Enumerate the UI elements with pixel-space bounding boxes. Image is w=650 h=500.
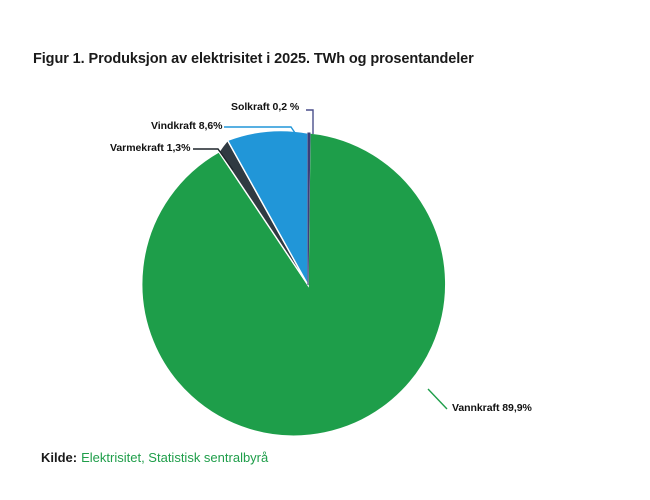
pie-label-solkraft: Solkraft 0,2 %	[231, 101, 299, 113]
pie-label-varmekraft: Varmekraft 1,3%	[110, 142, 190, 154]
source-line: Kilde:Elektrisitet, Statistisk sentralby…	[41, 450, 268, 465]
figure-container: Figur 1. Produksjon av elektrisitet i 20…	[0, 0, 650, 500]
source-link[interactable]: Elektrisitet, Statistisk sentralbyrå	[81, 450, 268, 465]
leader-line-vannkraft	[428, 389, 447, 409]
source-label: Kilde:	[41, 450, 77, 465]
pie-label-vannkraft: Vannkraft 89,9%	[452, 402, 532, 414]
leader-line-solkraft	[306, 110, 313, 134]
pie-label-vindkraft: Vindkraft 8,6%	[151, 120, 222, 132]
pie-chart	[0, 0, 650, 500]
